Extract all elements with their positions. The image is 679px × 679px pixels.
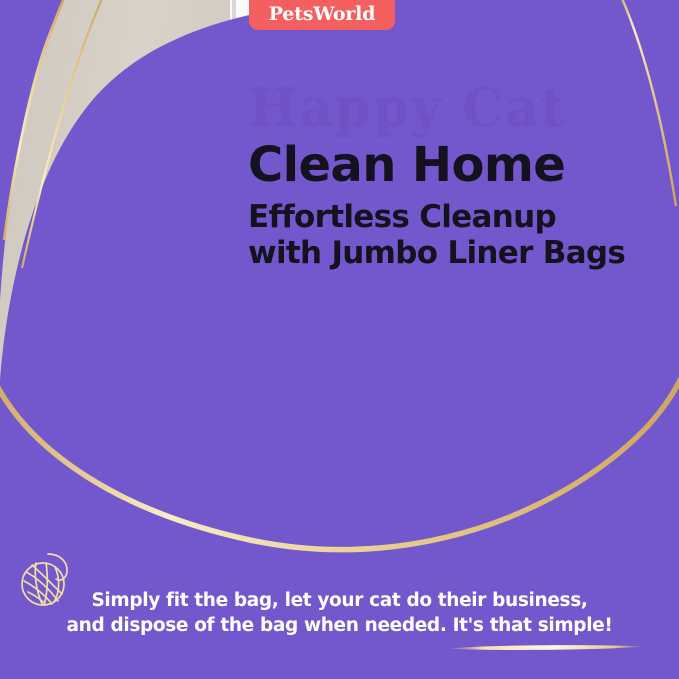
yarn-ball-icon (12, 548, 76, 612)
headline-line-4: with Jumbo Liner Bags (248, 235, 668, 271)
cat-paw-left (100, 484, 144, 506)
headline-line-3: Effortless Cleanup (248, 199, 668, 235)
litter-box-handle-right (578, 397, 600, 423)
caption-line-2: and dispose of the bag when needed. It's… (0, 613, 679, 638)
caption-underline-swoosh (448, 644, 644, 651)
headline-line-1: Happy Cat (248, 80, 668, 136)
advertisement-banner: PetsWorld Happy Cat Clean Home Effortles… (0, 0, 679, 679)
cat-photo (18, 132, 250, 502)
cat-paw-right (146, 484, 190, 506)
litter-box-handle-left (290, 383, 306, 394)
headline-line-2: Clean Home (248, 138, 668, 193)
liner-bag-sheen-right (504, 384, 574, 473)
litter-box-with-liner (232, 355, 632, 485)
cat-mouth (122, 258, 148, 274)
cat-pupil-left (95, 212, 104, 227)
brand-badge: PetsWorld (249, 0, 395, 30)
caption-block: Simply fit the bag, let your cat do thei… (0, 588, 679, 638)
cat-nose (125, 244, 145, 258)
brand-name: PetsWorld (269, 5, 376, 25)
liner-bag-sheen-left (352, 378, 472, 475)
caption-line-1: Simply fit the bag, let your cat do thei… (0, 588, 679, 613)
headline-block: Happy Cat Clean Home Effortless Cleanup … (248, 80, 668, 271)
cat-pupil-right (145, 212, 154, 227)
